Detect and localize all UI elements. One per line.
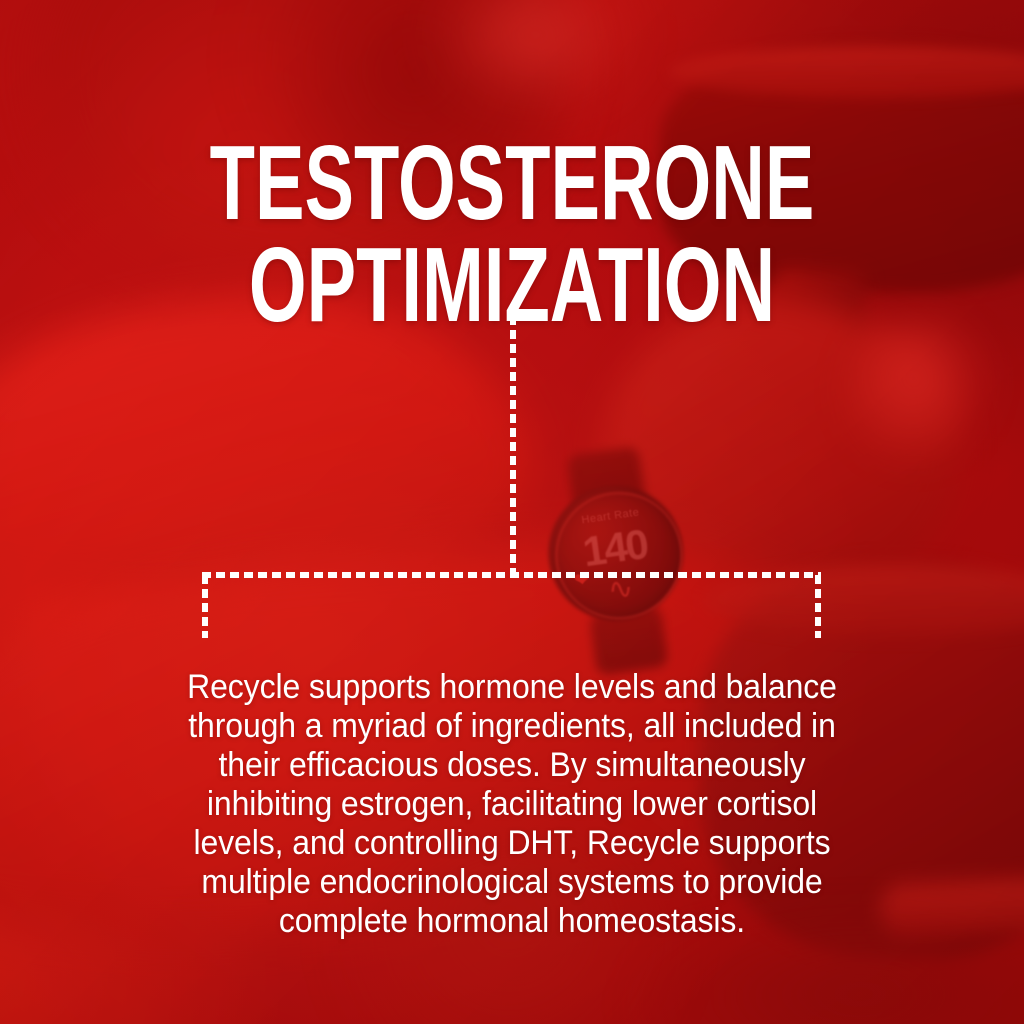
body-copy: Recycle supports hormone levels and bala… [164,668,860,941]
body-line-3: their efficacious doses. By simultaneous… [164,746,860,785]
body-line-2: through a myriad of ingredients, all inc… [164,707,860,746]
poster-canvas: Heart Rate 140 ❤ ∿ TESTOSTERONE OPTIMIZA… [0,0,1024,1024]
poster-content: TESTOSTERONE OPTIMIZATION Recycle suppor… [0,0,1024,1024]
body-line-1: Recycle supports hormone levels and bala… [164,668,860,707]
body-line-7: complete hormonal homeostasis. [164,902,860,941]
body-line-4: inhibiting estrogen, facilitating lower … [164,785,860,824]
body-line-6: multiple endocrinological systems to pro… [164,863,860,902]
body-line-5: levels, and controlling DHT, Recycle sup… [164,824,860,863]
